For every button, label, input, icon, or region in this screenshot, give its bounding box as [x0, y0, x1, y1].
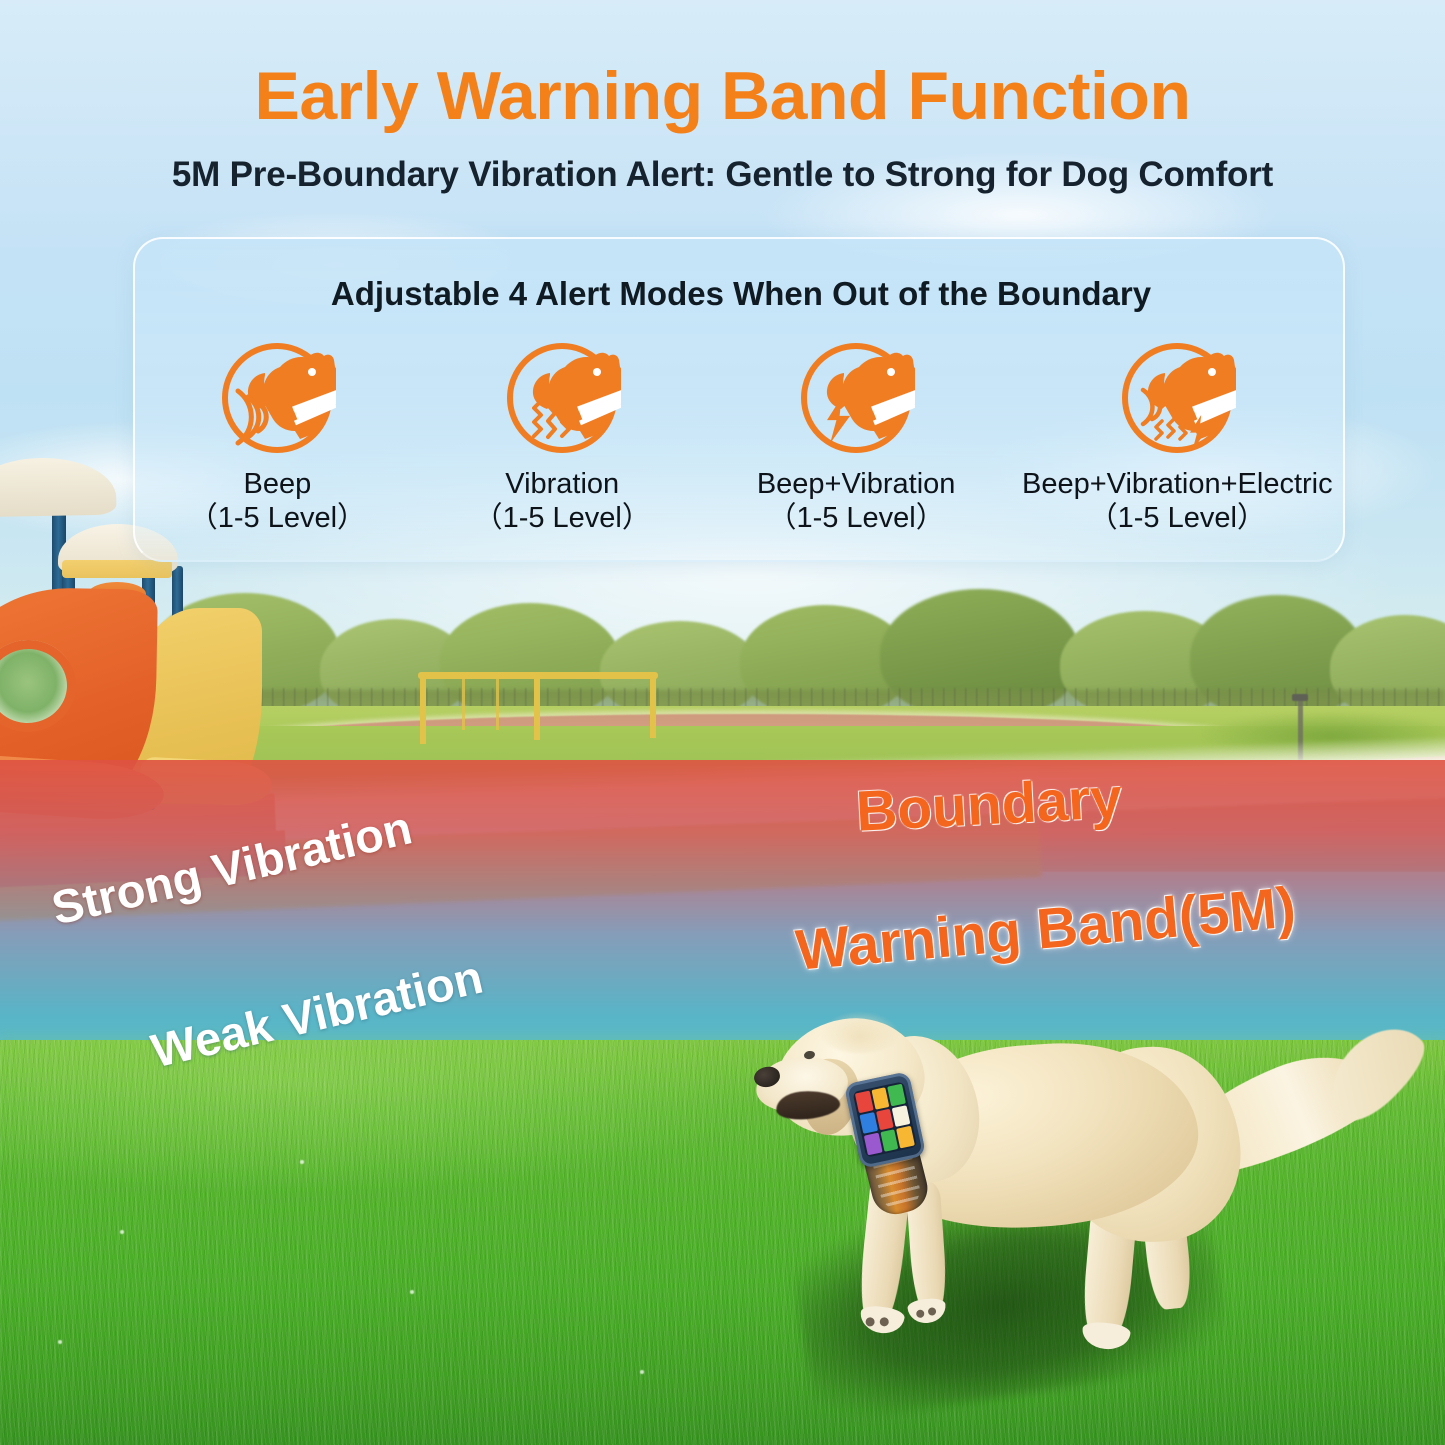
- alert-mode-beep-vibration-electric[interactable]: Beep+Vibration+Electric（1-5 Level）: [1008, 339, 1347, 535]
- page-subtitle: 5M Pre-Boundary Vibration Alert: Gentle …: [0, 155, 1445, 195]
- alert-mode-vibration[interactable]: Vibration（1-5 Level）: [420, 339, 705, 535]
- alert-mode-label: Beep（1-5 Level）: [189, 467, 366, 535]
- alert-mode-beep-vibration[interactable]: Beep+Vibration（1-5 Level）: [705, 339, 1008, 535]
- label-boundary: Boundary: [854, 765, 1123, 845]
- alert-mode-label: Vibration（1-5 Level）: [474, 467, 651, 535]
- alert-modes-panel: Adjustable 4 Alert Modes When Out of the…: [133, 237, 1345, 562]
- dog-beep-vibration-icon: [797, 339, 915, 457]
- dog-beep-vibration-electric-icon: [1118, 339, 1236, 457]
- park-lamp-head: [1292, 694, 1308, 701]
- alert-mode-label: Beep+Vibration+Electric（1-5 Level）: [1022, 467, 1333, 535]
- alert-mode-level: （1-5 Level）: [189, 501, 366, 535]
- alert-mode-level: （1-5 Level）: [1022, 501, 1333, 535]
- alert-mode-level: （1-5 Level）: [474, 501, 651, 535]
- dog-beep-icon: [218, 339, 336, 457]
- dog-vibration-icon: [503, 339, 621, 457]
- product-feature-image: Strong Vibration Weak Vibration Boundary…: [0, 0, 1445, 1445]
- alert-modes-title: Adjustable 4 Alert Modes When Out of the…: [135, 275, 1347, 313]
- collar-device-screen: [852, 1081, 917, 1157]
- alert-mode-label: Beep+Vibration（1-5 Level）: [757, 467, 956, 535]
- swing-frame: [418, 672, 658, 742]
- dog-brow: [820, 1011, 900, 1053]
- alert-mode-level: （1-5 Level）: [757, 501, 956, 535]
- page-title: Early Warning Band Function: [0, 62, 1445, 130]
- dog-with-gps-collar: [760, 975, 1445, 1395]
- alert-mode-beep[interactable]: Beep（1-5 Level）: [135, 339, 420, 535]
- alert-modes-list: Beep（1-5 Level） Vibration（1-5 Level） Bee…: [135, 339, 1347, 549]
